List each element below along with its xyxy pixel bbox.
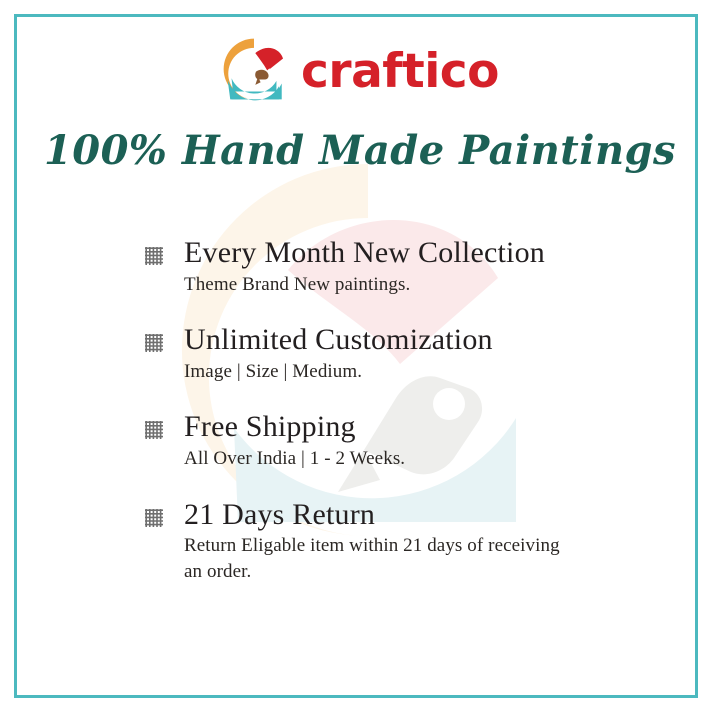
craftico-circle-brush-logo-icon [221,36,287,102]
woven-grid-bullet-icon [143,507,165,529]
list-item: Every Month New Collection Theme Brand N… [143,236,613,297]
feature-title: Unlimited Customization [184,323,613,357]
list-item: 21 Days Return Return Eligable item with… [143,498,613,585]
feature-title: 21 Days Return [184,498,613,532]
page-title: 100% Hand Made Paintings [0,128,720,174]
promo-banner: craftico 100% Hand Made Paintings [0,0,720,720]
feature-subtitle: All Over India | 1 - 2 Weeks. [184,446,574,472]
woven-grid-bullet-icon [143,419,165,441]
feature-subtitle: Image | Size | Medium. [184,359,574,385]
feature-list: Every Month New Collection Theme Brand N… [143,236,613,585]
brand-logo: craftico [0,36,720,102]
feature-subtitle: Theme Brand New paintings. [184,272,574,298]
feature-title: Every Month New Collection [184,236,613,270]
brand-wordmark: craftico [301,48,499,95]
feature-subtitle: Return Eligable item within 21 days of r… [184,533,574,584]
list-item: Unlimited Customization Image | Size | M… [143,323,613,384]
list-item: Free Shipping All Over India | 1 - 2 Wee… [143,410,613,471]
feature-title: Free Shipping [184,410,613,444]
woven-grid-bullet-icon [143,245,165,267]
woven-grid-bullet-icon [143,332,165,354]
